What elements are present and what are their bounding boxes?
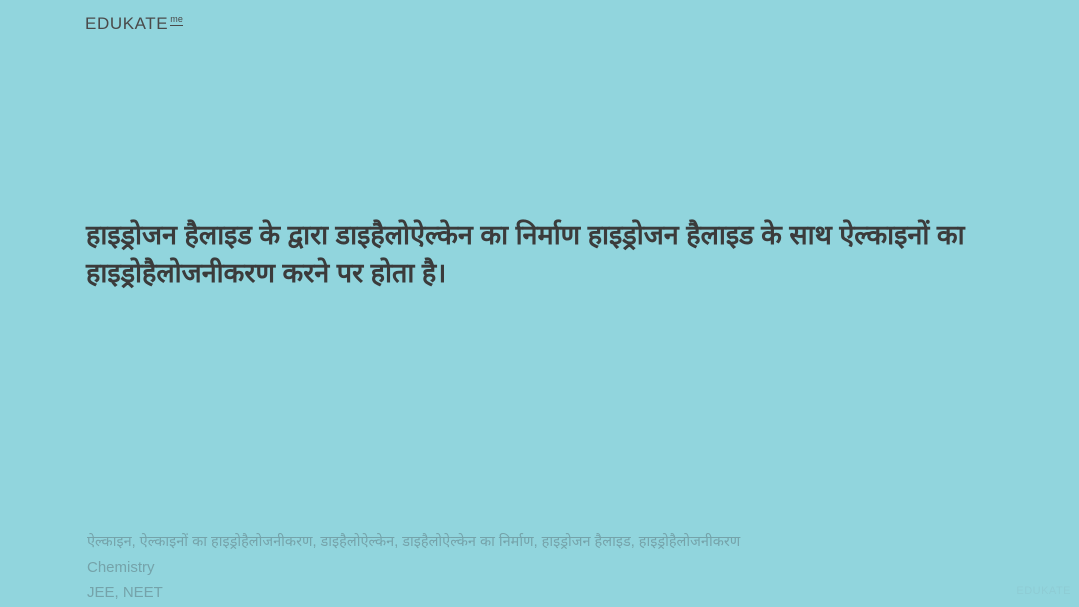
slide-canvas: EDUKATE me हाइड्रोजन हैलाइड के द्वारा डा… bbox=[0, 0, 1079, 607]
brand-suffix-text: me bbox=[170, 15, 183, 26]
exam-label: JEE, NEET bbox=[87, 580, 1007, 605]
tag-list: ऐल्काइन, ऐल्काइनों का हाइड्रोहैलोजनीकरण,… bbox=[87, 530, 1007, 555]
brand-name-text: EDUKATE bbox=[85, 15, 168, 32]
page-title: हाइड्रोजन हैलाइड के द्वारा डाइहैलोऐल्केन… bbox=[86, 216, 966, 293]
subject-label: Chemistry bbox=[87, 555, 1007, 580]
edukate-logo[interactable]: EDUKATE me bbox=[85, 15, 183, 32]
metadata-block: ऐल्काइन, ऐल्काइनों का हाइड्रोहैलोजनीकरण,… bbox=[87, 530, 1007, 605]
corner-watermark: EDUKATE bbox=[1016, 585, 1071, 597]
